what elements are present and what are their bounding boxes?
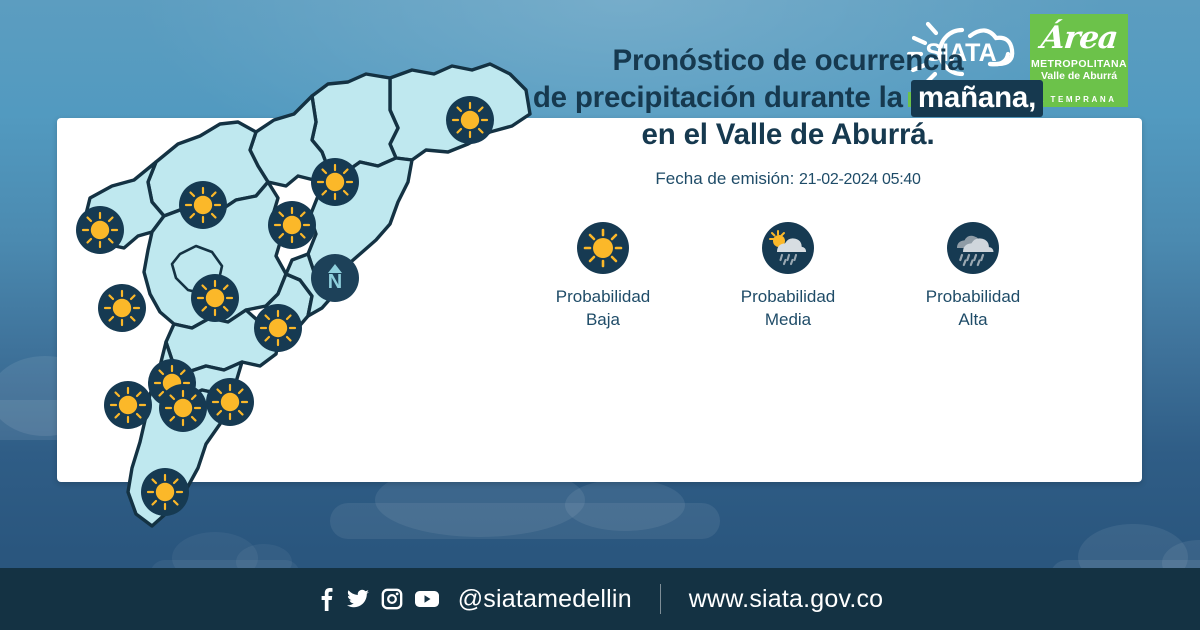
map-marker-baja [104,381,152,429]
youtube-icon[interactable] [414,589,440,609]
map-marker-baja [159,384,207,432]
legend-label-media: Probabilidad Media [741,285,836,331]
legend-label-baja: Probabilidad Baja [556,285,651,331]
social-handle[interactable]: @siatamedellin [458,585,632,614]
twitter-icon[interactable] [346,587,370,611]
map-marker-baja [446,96,494,144]
map-marker-baja [206,378,254,426]
map-marker-baja [191,274,239,322]
forecast-text-block: Pronóstico de ocurrencia de precipitació… [508,42,1068,189]
headline-line-3: en el Valle de Aburrá. [508,116,1068,153]
legend-label-line2: Media [741,308,836,331]
legend-label-line2: Alta [926,308,1021,331]
emission-date-label: Fecha de emisión: [655,169,794,188]
map-marker-baja [268,201,316,249]
map-marker-baja [98,284,146,332]
facebook-icon[interactable] [317,587,335,611]
map-marker-baja [254,304,302,352]
legend-label-line1: Probabilidad [741,285,836,308]
emission-date: Fecha de emisión: 21-02-2024 05:40 [508,169,1068,189]
cloud-heavy-rain-icon [947,222,999,274]
legend-label-line1: Probabilidad [926,285,1021,308]
legend-item-baja: Probabilidad Baja [518,222,688,331]
infographic-root: SIATA Área METROPOLITANA Valle de Aburrá… [0,0,1200,630]
headline-line-2: de precipitación durante la mañana, [508,79,1068,116]
headline-line-1: Pronóstico de ocurrencia [508,42,1068,79]
map-marker-baja [179,181,227,229]
emission-date-value: 21-02-2024 05:40 [799,171,921,188]
map-marker-baja [311,158,359,206]
headline-line-2-text: de precipitación durante la [533,81,903,114]
website-link[interactable]: www.siata.gov.co [689,585,883,614]
footer-bar: @siatamedellin www.siata.gov.co [0,568,1200,630]
legend-label-line2: Baja [556,308,651,331]
legend-item-alta: Probabilidad Alta [888,222,1058,331]
page-title: Pronóstico de ocurrencia de precipitació… [508,42,1068,153]
sun-cloud-rain-icon [762,222,814,274]
sun-icon [577,222,629,274]
legend-item-media: Probabilidad Media [703,222,873,331]
instagram-icon[interactable] [381,588,403,610]
legend-label-line1: Probabilidad [556,285,651,308]
probability-legend: Probabilidad Baja [508,222,1068,331]
valle-de-aburra-map: N [60,40,540,600]
north-arrow-icon: N [311,254,359,302]
footer-divider [660,584,661,614]
social-icons [317,587,440,611]
north-arrow-label: N [328,273,342,292]
headline-highlight: mañana, [911,80,1043,117]
map-marker-baja [76,206,124,254]
map-marker-baja [141,468,189,516]
legend-label-alta: Probabilidad Alta [926,285,1021,331]
